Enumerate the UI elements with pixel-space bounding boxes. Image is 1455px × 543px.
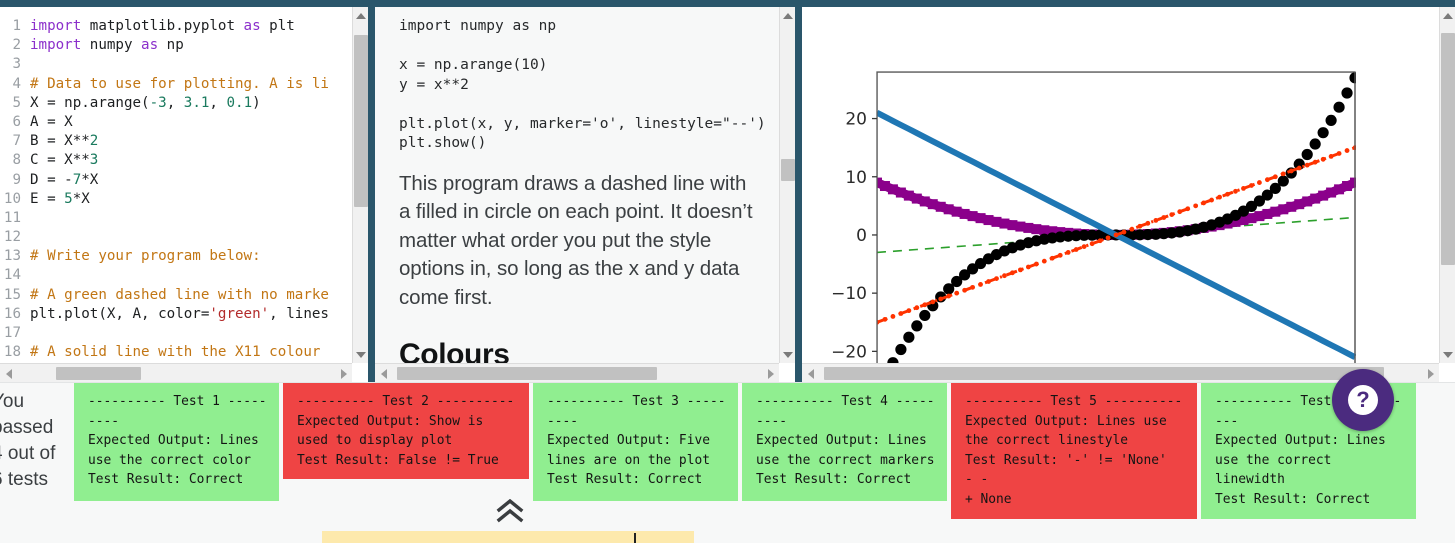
series-marker-point	[1345, 148, 1350, 153]
series-marker-circle	[1341, 87, 1352, 98]
series-marker-circle	[1333, 102, 1344, 113]
collapse-panel-button[interactable]	[493, 498, 527, 524]
code-token: ,	[167, 95, 184, 111]
series-marker-point	[1177, 209, 1182, 214]
series-marker-point	[906, 308, 911, 313]
test-results-row: You passed 4 out of 6 tests ---------- T…	[0, 382, 1455, 516]
scroll-right-arrow-icon[interactable]	[1422, 364, 1439, 382]
test-result-card-4: ---------- Test 4 --------- Expected Out…	[742, 383, 947, 501]
series-marker-point	[1153, 218, 1158, 223]
scroll-left-arrow-icon[interactable]	[802, 364, 819, 382]
line-number: 9	[0, 171, 30, 190]
matplotlib-figure: 20100−10−2020100−10−20	[802, 7, 1439, 363]
series-marker-point	[1042, 259, 1047, 264]
series-marker-point	[1090, 241, 1095, 246]
series-marker-point	[962, 288, 967, 293]
series-marker-point	[914, 305, 919, 310]
series-marker-point	[970, 285, 975, 290]
scroll-right-arrow-icon[interactable]	[335, 364, 352, 382]
line-number: 16	[0, 305, 30, 324]
scrollbar-corner	[1439, 363, 1455, 382]
series-marker-point	[1313, 160, 1318, 165]
series-marker-point	[930, 299, 935, 304]
code-vertical-scrollbar[interactable]	[352, 7, 368, 363]
y-tick-label: 10	[845, 168, 867, 188]
notes-horizontal-scrollbar[interactable]	[375, 363, 779, 382]
series-marker-circle	[911, 320, 922, 331]
y-tick-label: 0	[856, 226, 867, 246]
test-result-card-5: ---------- Test 5 ---------- Expected Ou…	[951, 383, 1197, 519]
line-number: 5	[0, 94, 30, 113]
plot-output-pane[interactable]: 20100−10−2020100−10−20	[802, 0, 1455, 382]
notes-vertical-scrollbar[interactable]	[779, 7, 795, 363]
series-marker-point	[899, 311, 904, 316]
series-marker-point	[1066, 250, 1071, 255]
y-tick-label: −10	[831, 284, 867, 304]
code-line[interactable]: 11	[0, 209, 352, 228]
scroll-thumb[interactable]	[781, 159, 795, 181]
code-token: ,	[209, 95, 226, 111]
code-line[interactable]: 3	[0, 55, 352, 74]
code-token: *X	[81, 172, 98, 188]
code-token: B = X**	[30, 133, 90, 149]
line-number: 17	[0, 324, 30, 343]
plot-top-margin-mask	[802, 7, 1439, 72]
series-marker-point	[1018, 267, 1023, 272]
scroll-left-arrow-icon[interactable]	[375, 364, 392, 382]
series-marker-point	[1337, 151, 1342, 156]
plot-vertical-scrollbar[interactable]	[1439, 7, 1455, 363]
code-token: np	[158, 37, 184, 53]
code-line[interactable]: 15# A green dashed line with no marke	[0, 286, 352, 305]
code-token: , lines	[269, 306, 329, 322]
series-marker-point	[1002, 273, 1007, 278]
line-number: 18	[0, 343, 30, 362]
line-number: 7	[0, 132, 30, 151]
code-token: import	[30, 37, 81, 53]
lesson-notes-pane[interactable]: import numpy as np x = np.arange(10) y =…	[375, 0, 795, 382]
series-marker-point	[1265, 177, 1270, 182]
series-marker-point	[1305, 163, 1310, 168]
scroll-thumb[interactable]	[1441, 33, 1455, 265]
scroll-up-arrow-icon[interactable]	[1440, 7, 1455, 24]
text-caret	[634, 533, 636, 543]
series-marker-point	[1050, 256, 1055, 261]
code-token: )	[252, 95, 261, 111]
code-token: # A green dashed line with no marke	[30, 287, 329, 303]
series-marker-point	[1217, 195, 1222, 200]
series-marker-point	[1145, 221, 1150, 226]
series-marker-point	[986, 279, 991, 284]
code-token: plt.plot(X, A, color=	[30, 306, 209, 322]
scroll-thumb-h[interactable]	[824, 367, 1384, 380]
test-result-card-3: ---------- Test 3 --------- Expected Out…	[533, 383, 738, 501]
code-token: 0.1	[227, 95, 253, 111]
series-marker-point	[1241, 186, 1246, 191]
series-marker-circle	[1326, 115, 1337, 126]
series-marker-circle	[895, 344, 906, 355]
code-line[interactable]: 4# Data to use for plotting. A is li	[0, 75, 352, 94]
series-marker-point	[1106, 235, 1111, 240]
series-marker-point	[1329, 154, 1334, 159]
series-marker-point	[1074, 247, 1079, 252]
scroll-up-arrow-icon[interactable]	[780, 7, 795, 24]
series-marker-point	[978, 282, 983, 287]
code-editor-pane[interactable]: 1import matplotlib.pyplot as plt2import …	[0, 0, 368, 382]
series-marker-point	[1249, 183, 1254, 188]
code-token: 3.1	[184, 95, 210, 111]
series-marker-point	[1034, 262, 1039, 267]
series-marker-point	[1289, 169, 1294, 174]
y-tick-label: −20	[831, 342, 867, 362]
code-line[interactable]: 12	[0, 228, 352, 247]
code-token: as	[244, 18, 261, 34]
series-marker-point	[1185, 206, 1190, 211]
line-number: 8	[0, 151, 30, 170]
code-token: E =	[30, 191, 64, 207]
series-marker-point	[1122, 230, 1127, 235]
series-marker-point	[922, 302, 927, 307]
code-token: # Data to use for plotting. A is li	[30, 76, 329, 92]
code-token: D = -	[30, 172, 73, 188]
series-marker-point	[1297, 166, 1302, 171]
series-marker-point	[1130, 227, 1135, 232]
line-number: 3	[0, 55, 30, 74]
notes-paragraph: This program draws a dashed line with a …	[399, 170, 761, 313]
series-marker-point	[1114, 233, 1119, 238]
help-button[interactable]: ?	[1332, 369, 1394, 431]
code-token: plt	[261, 18, 295, 34]
scroll-up-arrow-icon[interactable]	[353, 7, 368, 24]
code-line[interactable]: 2import numpy as np	[0, 36, 352, 55]
series-marker-point	[1257, 180, 1262, 185]
code-token: 'green'	[209, 306, 269, 322]
code-token: A = X	[30, 114, 73, 130]
line-number: 15	[0, 286, 30, 305]
code-token: numpy	[81, 37, 141, 53]
series-marker-circle	[919, 310, 930, 321]
code-token: as	[141, 37, 158, 53]
series-marker-point	[1273, 174, 1278, 179]
series-marker-point	[994, 276, 999, 281]
code-token: 5	[64, 191, 73, 207]
question-mark-icon: ?	[1348, 385, 1378, 415]
bottom-input-bar[interactable]	[322, 531, 694, 543]
code-line[interactable]: 7B = X**2	[0, 132, 352, 151]
chevron-double-up-icon	[495, 499, 525, 523]
line-number: 13	[0, 247, 30, 266]
series-marker-point	[1010, 270, 1015, 275]
scroll-thumb-h[interactable]	[56, 367, 141, 380]
code-line[interactable]: 13# Write your program below:	[0, 247, 352, 266]
scroll-thumb[interactable]	[354, 35, 368, 207]
code-horizontal-scrollbar[interactable]	[0, 363, 352, 382]
line-number: 11	[0, 209, 30, 228]
code-token: 3	[90, 152, 99, 168]
ide-window: 1import matplotlib.pyplot as plt2import …	[0, 0, 1455, 543]
scroll-right-arrow-icon[interactable]	[762, 364, 779, 382]
code-editor-viewport[interactable]: 1import matplotlib.pyplot as plt2import …	[0, 7, 352, 363]
code-line[interactable]: 9D = -7*X	[0, 171, 352, 190]
code-editor-lines[interactable]: 1import matplotlib.pyplot as plt2import …	[0, 7, 352, 363]
code-token: -3	[150, 95, 167, 111]
series-marker-point	[1193, 203, 1198, 208]
tests-passed-summary: You passed 4 out of 6 tests	[0, 383, 74, 493]
code-token: matplotlib.pyplot	[81, 18, 243, 34]
series-marker-circle	[1318, 127, 1329, 138]
code-line[interactable]: 1import matplotlib.pyplot as plt	[0, 17, 352, 36]
scrollbar-corner	[779, 363, 795, 382]
test-result-card-2: ---------- Test 2 ---------- Expected Ou…	[283, 383, 529, 479]
scrollbar-corner	[352, 363, 368, 382]
test-result-cards: ---------- Test 1 --------- Expected Out…	[74, 383, 1420, 519]
series-marker-point	[1281, 171, 1286, 176]
code-line[interactable]: 5X = np.arange(-3, 3.1, 0.1)	[0, 94, 352, 113]
series-marker-point	[883, 317, 888, 322]
scroll-down-arrow-icon[interactable]	[1440, 346, 1455, 363]
code-token: import	[30, 18, 81, 34]
series-marker-circle	[903, 332, 914, 343]
code-token: C = X**	[30, 152, 90, 168]
series-marker-point	[1082, 244, 1087, 249]
code-line[interactable]: 10E = 5*X	[0, 190, 352, 209]
series-marker-point	[1161, 215, 1166, 220]
series-marker-point	[1233, 189, 1238, 194]
line-number: 6	[0, 113, 30, 132]
series-marker-point	[1026, 265, 1031, 270]
series-marker-point	[1321, 157, 1326, 162]
notes-heading-colours: Colours	[399, 338, 761, 363]
series-marker-point	[891, 314, 896, 319]
code-token: # Write your program below:	[30, 248, 261, 264]
scroll-down-arrow-icon[interactable]	[353, 346, 368, 363]
series-marker-point	[1201, 201, 1206, 206]
scroll-thumb-h[interactable]	[397, 367, 657, 380]
line-number: 2	[0, 36, 30, 55]
series-marker-circle	[1278, 175, 1289, 186]
series-marker-circle	[1302, 149, 1313, 160]
series-marker-circle	[1310, 138, 1321, 149]
code-token: *X	[73, 191, 90, 207]
code-line[interactable]: 14	[0, 266, 352, 285]
line-number: 14	[0, 266, 30, 285]
series-marker-point	[1058, 253, 1063, 258]
panes-row: 1import matplotlib.pyplot as plt2import …	[0, 0, 1455, 382]
code-line[interactable]: 18# A solid line with the X11 colour	[0, 343, 352, 362]
code-line[interactable]: 8C = X**3	[0, 151, 352, 170]
line-number: 4	[0, 75, 30, 94]
series-marker-point	[938, 297, 943, 302]
series-marker-point	[1169, 212, 1174, 217]
series-marker-point	[1225, 192, 1230, 197]
line-number: 1	[0, 17, 30, 36]
scroll-left-arrow-icon[interactable]	[0, 364, 17, 382]
plot-viewport: 20100−10−2020100−10−20	[802, 7, 1439, 363]
series-marker-point	[954, 291, 959, 296]
code-token: # A solid line with the X11 colour	[30, 344, 320, 360]
series-marker-point	[1138, 224, 1143, 229]
series-marker-point	[1098, 238, 1103, 243]
series-marker-point	[946, 294, 951, 299]
notes-code-sample: import numpy as np x = np.arange(10) y =…	[399, 17, 761, 154]
code-token: X = np.arange(	[30, 95, 150, 111]
code-token: 2	[90, 133, 99, 149]
line-number: 10	[0, 190, 30, 209]
series-marker-point	[1209, 198, 1214, 203]
lesson-notes-viewport[interactable]: import numpy as np x = np.arange(10) y =…	[375, 7, 779, 363]
bottom-strip	[0, 516, 1455, 543]
code-token: 7	[73, 172, 82, 188]
scroll-down-arrow-icon[interactable]	[780, 346, 795, 363]
code-line[interactable]: 17	[0, 324, 352, 343]
code-line[interactable]: 6A = X	[0, 113, 352, 132]
y-tick-label: 20	[845, 110, 867, 130]
code-line[interactable]: 16plt.plot(X, A, color='green', lines	[0, 305, 352, 324]
test-result-card-1: ---------- Test 1 --------- Expected Out…	[74, 383, 279, 501]
line-number: 12	[0, 228, 30, 247]
